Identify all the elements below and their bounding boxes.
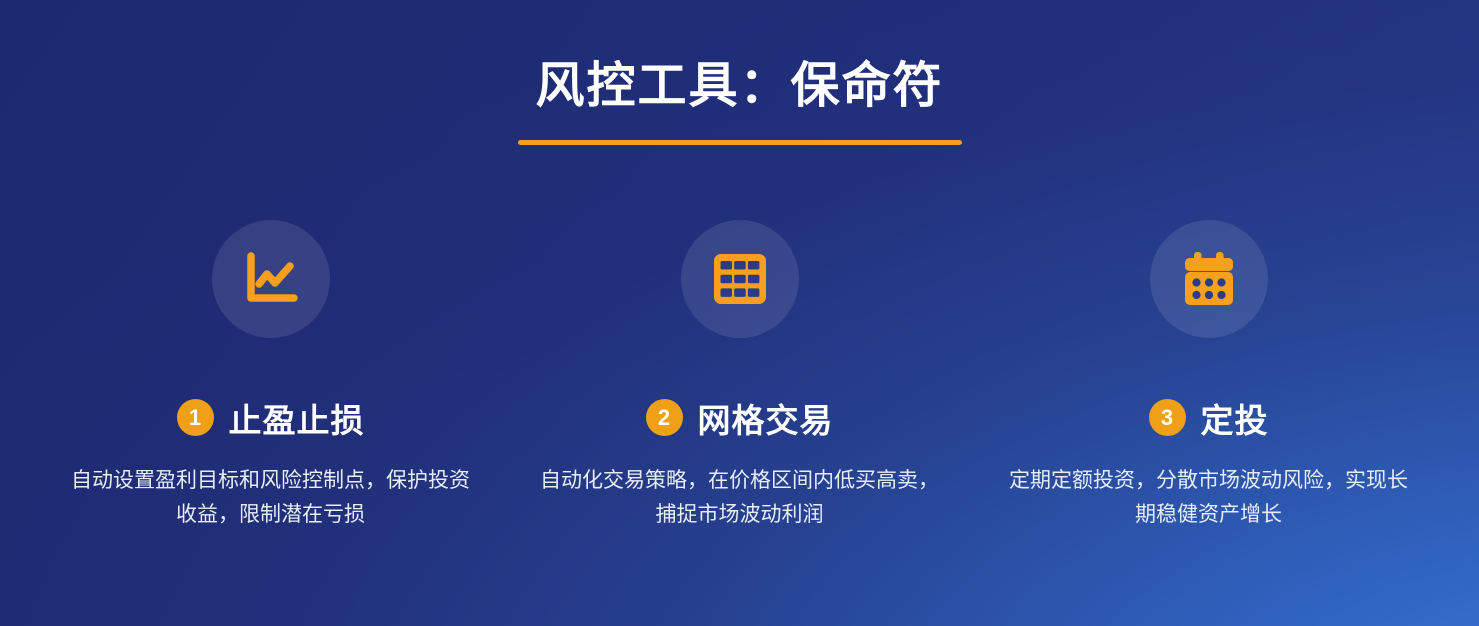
slide-root: 风控工具：保命符 1 止盈止损 自动设置盈利目标和风险控制点，保护投资收益，限制… — [0, 0, 1479, 626]
title-underline-rule — [518, 140, 962, 145]
card-title: 定投 — [1201, 394, 1269, 442]
line-chart-icon — [242, 250, 300, 308]
feature-card-1: 1 止盈止损 自动设置盈利目标和风险控制点，保护投资收益，限制潜在亏损 — [36, 220, 505, 532]
feature-columns: 1 止盈止损 自动设置盈利目标和风险控制点，保护投资收益，限制潜在亏损 — [0, 220, 1479, 532]
card-heading-2: 2 网格交易 — [646, 394, 834, 442]
feature-card-2: 2 网格交易 自动化交易策略，在价格区间内低买高卖，捕捉市场波动利润 — [505, 220, 974, 532]
title-block: 风控工具：保命符 — [0, 0, 1479, 145]
card-heading-3: 3 定投 — [1149, 394, 1269, 442]
card-description: 自动设置盈利目标和风险控制点，保护投资收益，限制潜在亏损 — [71, 464, 471, 532]
card-heading-1: 1 止盈止损 — [177, 394, 365, 442]
card-description: 定期定额投资，分散市场波动风险，实现长期稳健资产增长 — [1009, 464, 1409, 532]
calendar-icon — [1181, 250, 1237, 308]
icon-circle-1 — [212, 220, 330, 338]
icon-circle-3 — [1150, 220, 1268, 338]
status-badge: 3 — [1149, 399, 1186, 436]
feature-card-3: 3 定投 定期定额投资，分散市场波动风险，实现长期稳健资产增长 — [974, 220, 1443, 532]
card-title: 止盈止损 — [229, 394, 365, 442]
card-title: 网格交易 — [698, 394, 834, 442]
page-title: 风控工具：保命符 — [0, 58, 1479, 116]
card-description: 自动化交易策略，在价格区间内低买高卖，捕捉市场波动利润 — [540, 464, 940, 532]
grid-icon — [712, 252, 768, 306]
icon-circle-2 — [681, 220, 799, 338]
status-badge: 1 — [177, 399, 214, 436]
status-badge: 2 — [646, 399, 683, 436]
